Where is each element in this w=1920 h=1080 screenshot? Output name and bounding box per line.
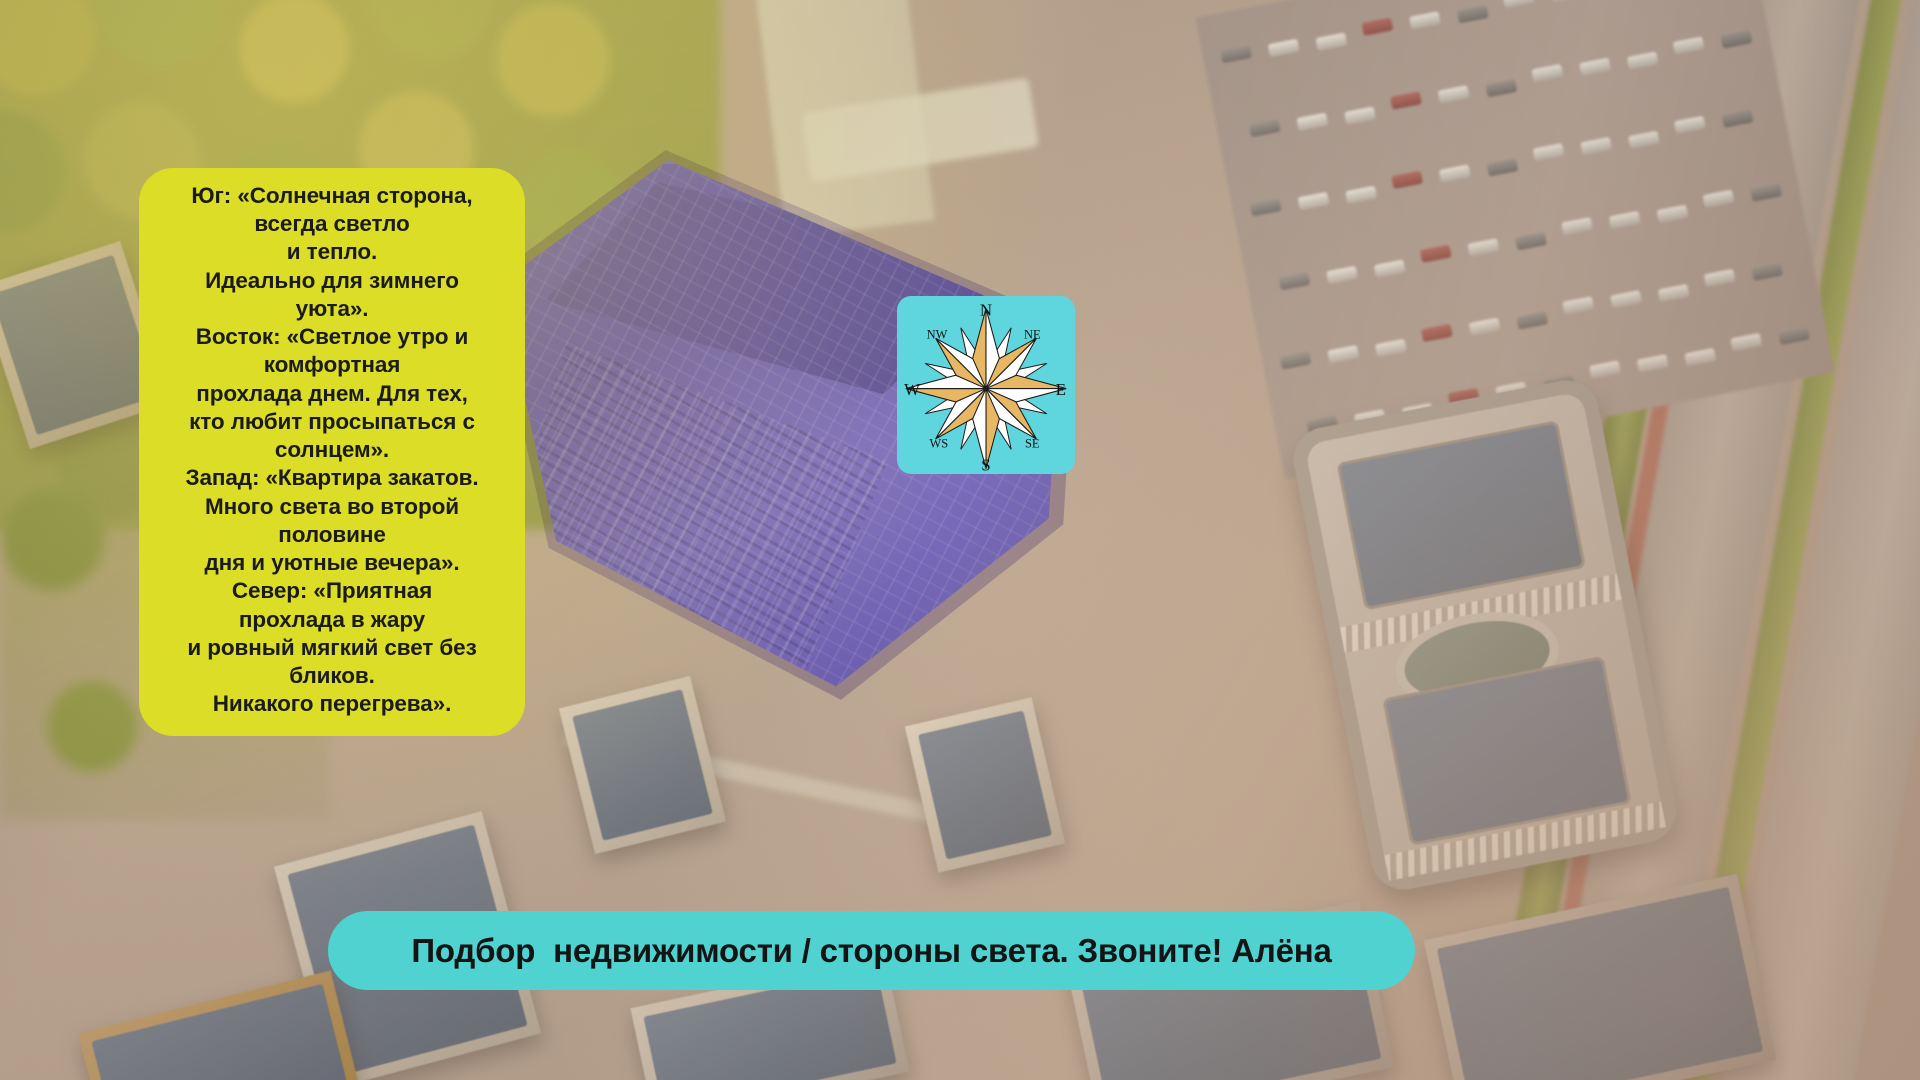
compass-label-northeast: NE xyxy=(1024,328,1041,342)
compass-label-west: W xyxy=(904,380,920,399)
cta-banner[interactable]: Подбор недвижимости / стороны света. Зво… xyxy=(328,911,1415,990)
compass-label-east: E xyxy=(1056,380,1066,399)
compass-label-north: N xyxy=(980,301,992,320)
compass-label-southeast: SE xyxy=(1025,436,1040,450)
compass-label-northwest: NW xyxy=(927,328,948,342)
orientation-info-card: Юг: «Солнечная сторона, всегда светло и … xyxy=(139,168,525,736)
compass-rose-widget: N S E W NW NE WS SE xyxy=(897,296,1075,474)
compass-label-south: S xyxy=(981,455,990,474)
cta-banner-text: Подбор недвижимости / стороны света. Зво… xyxy=(411,932,1331,970)
compass-label-southwest: WS xyxy=(929,436,948,450)
compass-rose-icon: N S E W NW NE WS SE xyxy=(897,296,1075,474)
